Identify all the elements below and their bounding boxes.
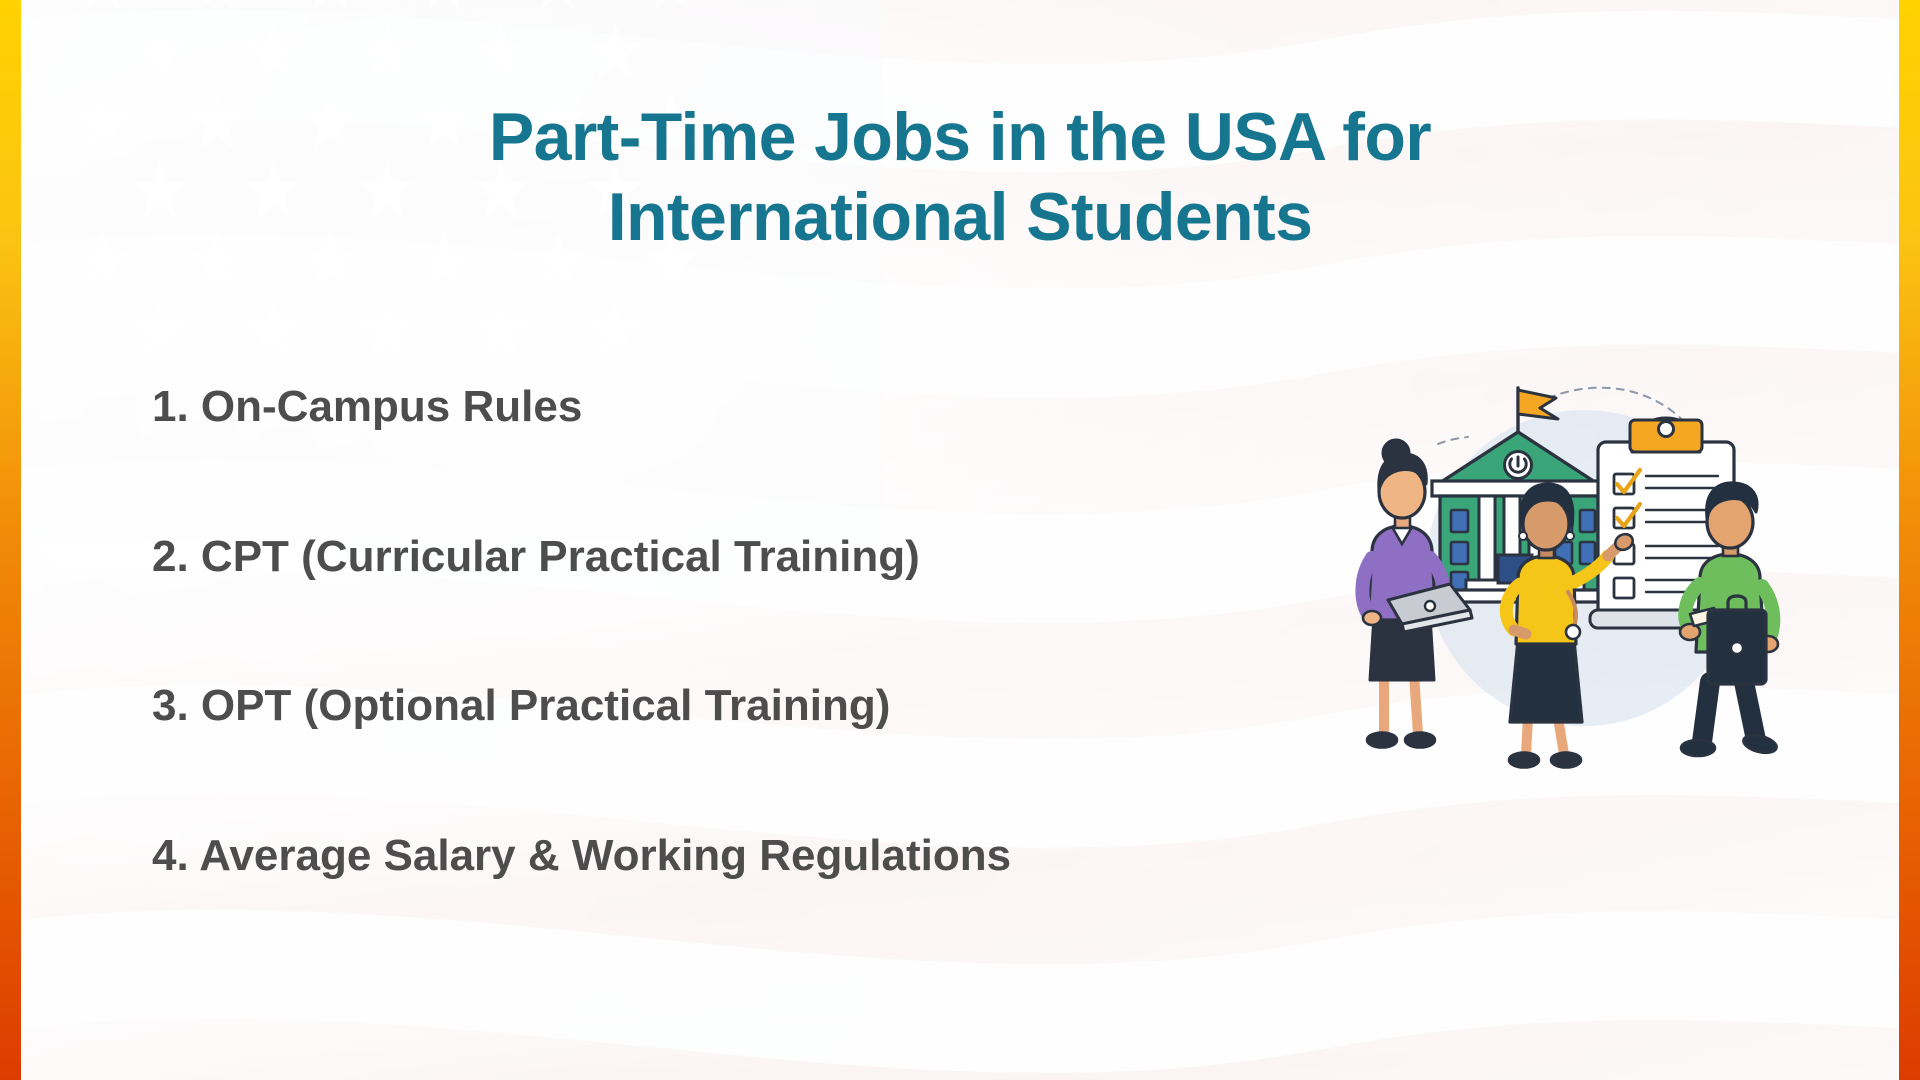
page-title-line-1: Part-Time Jobs in the USA for (180, 98, 1740, 178)
trousers-left (1702, 682, 1710, 742)
right-gradient-rail (1899, 0, 1920, 1080)
pennant-flag-icon (1518, 390, 1558, 419)
tablet-icon (1708, 596, 1766, 684)
left-gradient-rail (0, 0, 21, 1080)
list-item: 2. CPT (Curricular Practical Training) (152, 530, 1232, 585)
list-item: 4. Average Salary & Working Regulations (152, 829, 1232, 884)
students-campus-checklist-illustration (1352, 352, 1792, 792)
trousers-right (1744, 682, 1756, 740)
slide-root: Part-Time Jobs in the USA for Internatio… (0, 0, 1920, 1080)
page-title-line-2: International Students (180, 178, 1740, 258)
topic-list: 1. On-Campus Rules 2. CPT (Curricular Pr… (152, 380, 1232, 883)
badge-icon (1566, 625, 1580, 639)
page-title: Part-Time Jobs in the USA for Internatio… (0, 98, 1920, 257)
list-item: 3. OPT (Optional Practical Training) (152, 679, 1232, 734)
building-architrave (1432, 481, 1604, 496)
hair-bun (1383, 440, 1409, 466)
long-skirt (1510, 640, 1582, 722)
list-item: 1. On-Campus Rules (152, 380, 1232, 435)
